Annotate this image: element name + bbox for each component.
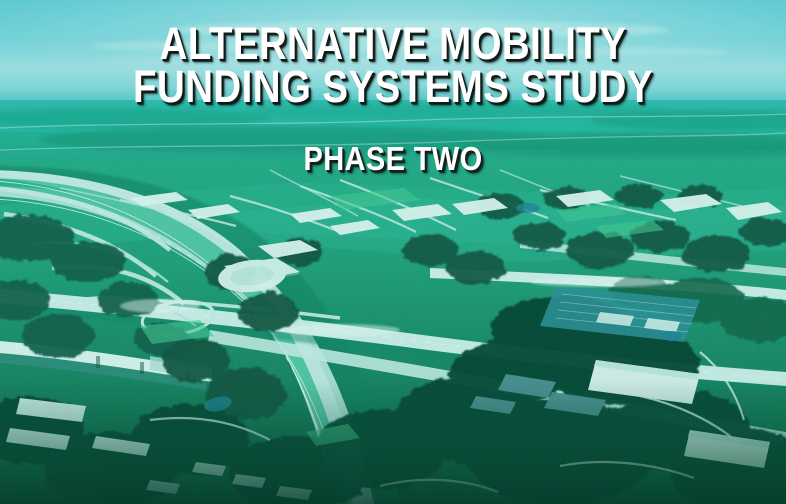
title-slide: ALTERNATIVE MOBILITY FUNDING SYSTEMS STU… [0,0,786,504]
background-aerial-photo [0,0,786,504]
